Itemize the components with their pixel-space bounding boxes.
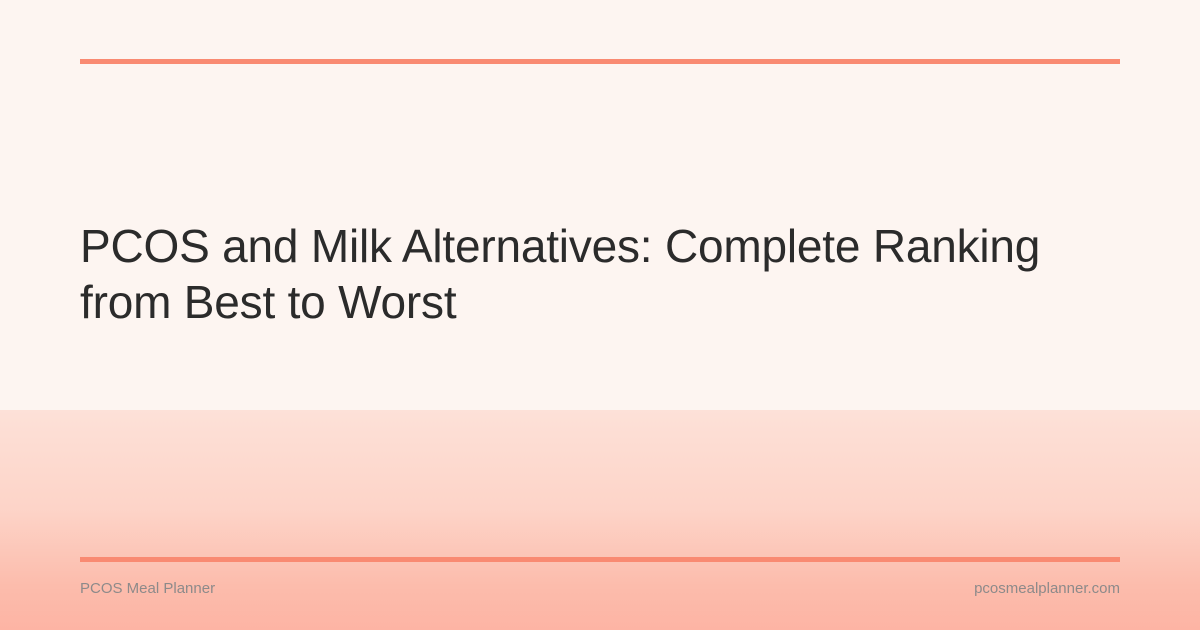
social-share-card: PCOS and Milk Alternatives: Complete Ran… xyxy=(0,0,1200,630)
page-title: PCOS and Milk Alternatives: Complete Ran… xyxy=(80,218,1080,330)
footer-site-url: pcosmealplanner.com xyxy=(974,580,1120,597)
bottom-accent-rule xyxy=(80,557,1120,562)
footer: PCOS Meal Planner pcosmealplanner.com xyxy=(80,580,1120,597)
gradient-background-band xyxy=(0,410,1200,630)
footer-brand-name: PCOS Meal Planner xyxy=(80,580,215,597)
top-accent-rule xyxy=(80,59,1120,64)
